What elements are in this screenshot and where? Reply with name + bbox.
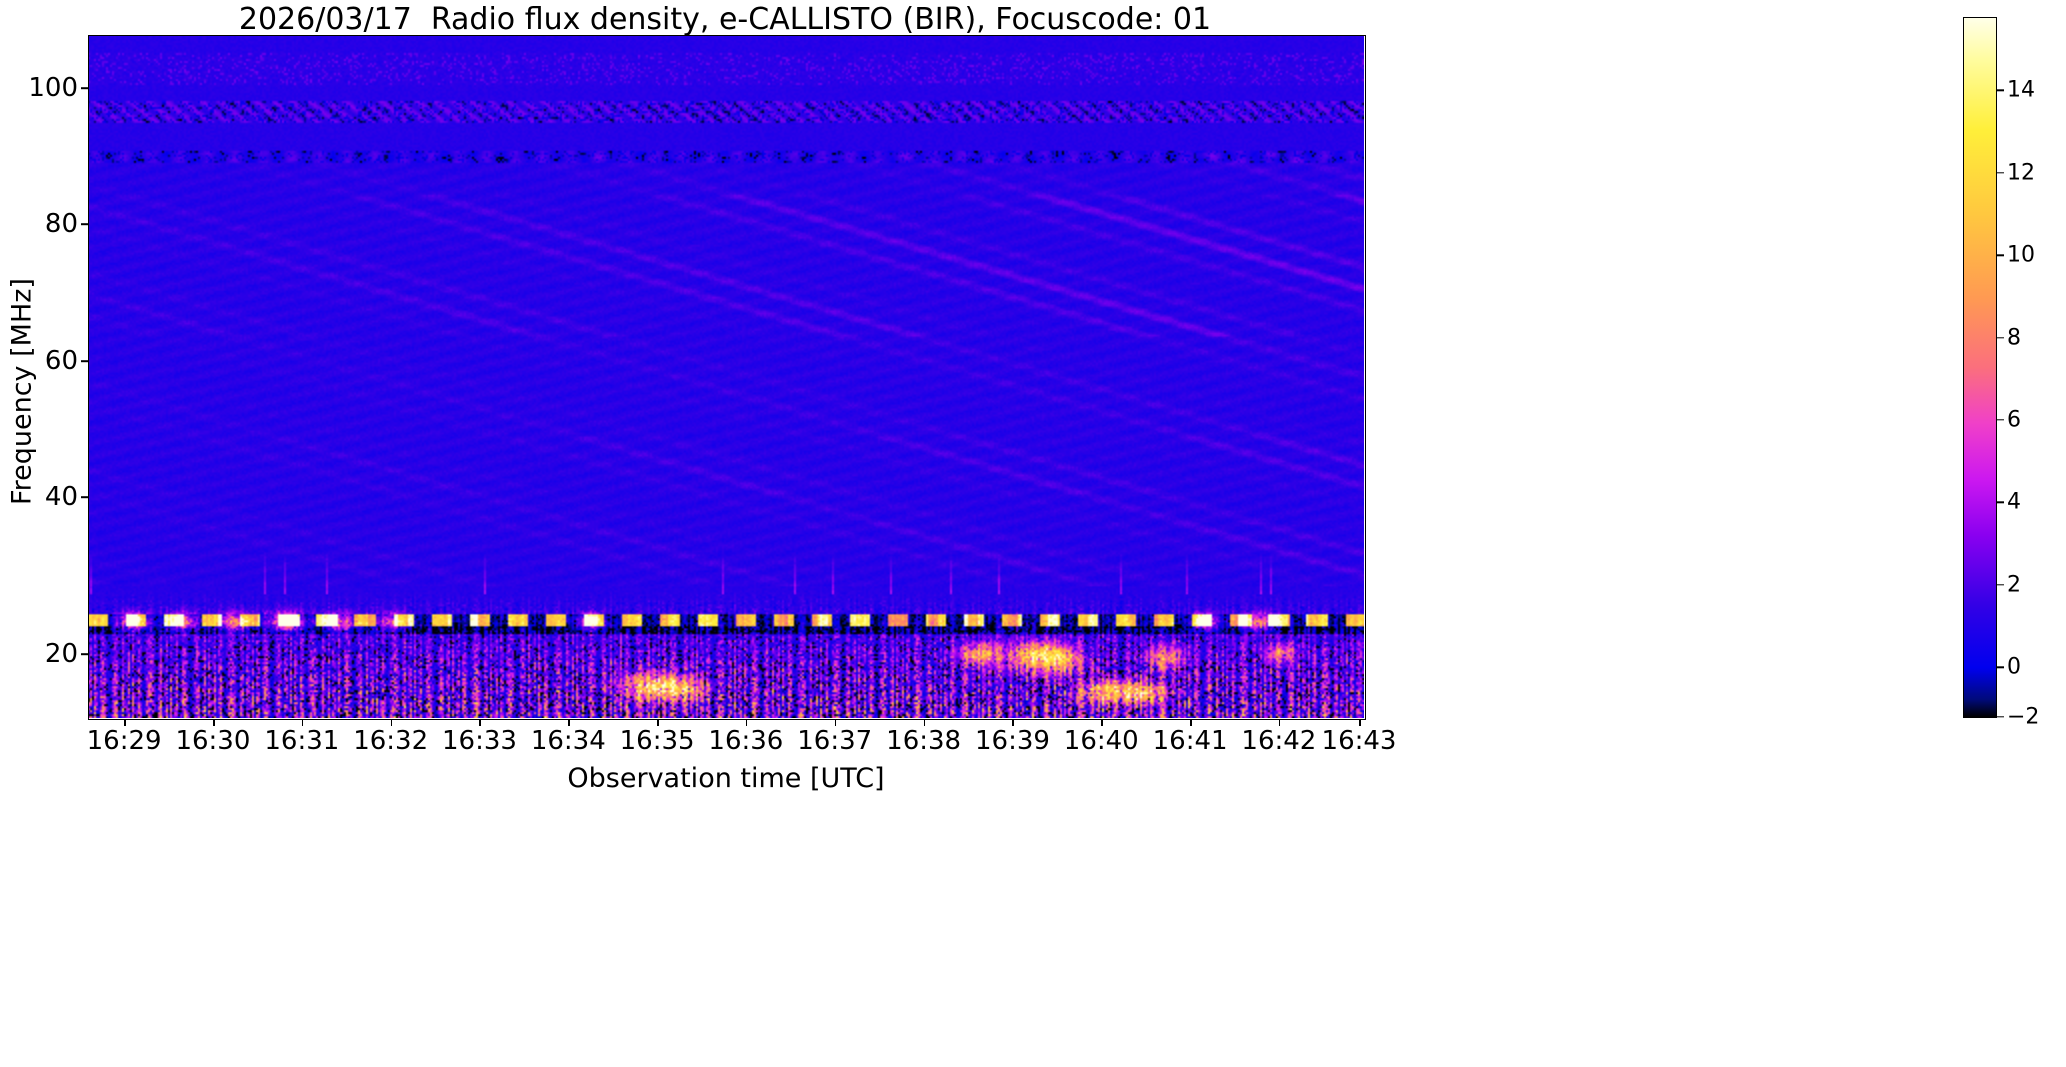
colorbar-tick-label: 0 — [2007, 655, 2021, 680]
colorbar-tick-label: 2 — [2007, 572, 2021, 597]
x-axis-tick-mark — [924, 719, 926, 726]
colorbar-tick-mark — [1997, 502, 2004, 503]
y-axis-tick-label: 80 — [6, 209, 78, 239]
x-axis-tick-mark — [302, 719, 304, 726]
colorbar-tick-mark — [1997, 584, 2004, 585]
x-axis-tick-mark — [657, 719, 659, 726]
x-axis-tick-mark — [835, 719, 837, 726]
x-axis-tick-mark — [391, 719, 393, 726]
x-axis-tick-mark — [124, 719, 126, 726]
colorbar-tick-label: 8 — [2007, 325, 2021, 350]
colorbar-tick-label: 12 — [2007, 160, 2035, 185]
colorbar-tick-label: 4 — [2007, 490, 2021, 515]
colorbar-tick-label: 6 — [2007, 408, 2021, 433]
x-axis-label: Observation time [UTC] — [88, 763, 1364, 794]
colorbar — [1963, 17, 1997, 718]
y-axis-label: Frequency [MHz] — [7, 242, 38, 542]
colorbar-tick-mark — [1997, 419, 2004, 420]
colorbar-gradient — [1963, 17, 1997, 718]
x-axis-tick-mark — [1012, 719, 1014, 726]
x-axis-tick-mark — [1279, 719, 1281, 726]
spectrogram-plot-area — [88, 35, 1364, 718]
colorbar-tick-mark — [1997, 337, 2004, 338]
colorbar-tick-mark — [1997, 90, 2004, 91]
y-axis-tick-mark — [81, 87, 88, 89]
colorbar-tick-label: 10 — [2007, 243, 2035, 268]
y-axis-tick-mark — [81, 654, 88, 656]
y-axis-tick-label: 20 — [6, 639, 78, 669]
colorbar-tick-mark — [1997, 254, 2004, 255]
x-axis-tick-mark — [1359, 719, 1361, 726]
x-axis-tick-mark — [479, 719, 481, 726]
y-axis-tick-mark — [81, 223, 88, 225]
colorbar-tick-mark — [1997, 666, 2004, 667]
colorbar-tick-mark — [1997, 172, 2004, 173]
x-axis-tick-mark — [1190, 719, 1192, 726]
spectrogram-figure: 2026/03/17 Radio flux density, e-CALLIST… — [0, 0, 2066, 1067]
colorbar-tick-label: 14 — [2007, 78, 2035, 103]
y-axis-tick-mark — [81, 497, 88, 499]
y-axis-tick-label: 100 — [6, 73, 78, 103]
spectrogram-image — [88, 35, 1364, 718]
x-axis-tick-mark — [213, 719, 215, 726]
colorbar-tick-mark — [1997, 716, 2004, 717]
y-axis-tick-mark — [81, 360, 88, 362]
colorbar-tick-label: −2 — [2007, 704, 2039, 729]
x-axis-tick-mark — [568, 719, 570, 726]
x-axis-tick-mark — [746, 719, 748, 726]
x-axis-tick-label: 16:43 — [1294, 726, 1424, 756]
x-axis-tick-mark — [1101, 719, 1103, 726]
page-title: 2026/03/17 Radio flux density, e-CALLIST… — [0, 2, 1450, 37]
